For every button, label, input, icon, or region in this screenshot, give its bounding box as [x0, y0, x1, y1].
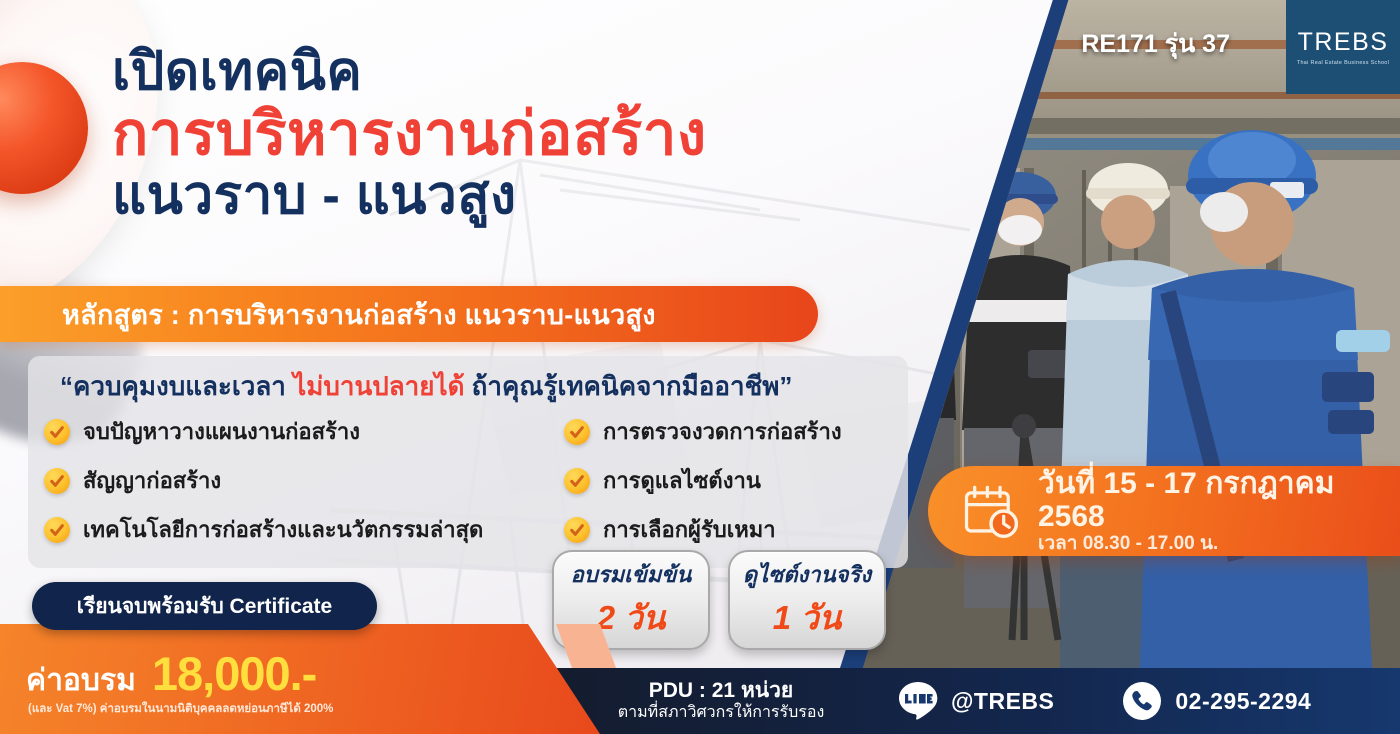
pdu-units: PDU : 21 หน่วย — [556, 679, 886, 702]
calendar-clock-icon — [962, 482, 1020, 540]
pdu-accreditation: ตามที่สภาวิศวกรให้การรับรอง — [556, 703, 886, 723]
date-time: เวลา 08.30 - 17.00 น. — [1038, 533, 1400, 556]
list-item: การดูแลไซต์งาน — [564, 463, 924, 498]
list-item-label: การตรวจงวดการก่อสร้าง — [603, 414, 842, 449]
check-icon — [564, 468, 590, 494]
line-icon[interactable] — [898, 681, 938, 721]
price-row: ค่าอบรม 18,000.- — [26, 646, 316, 704]
check-icon — [564, 419, 590, 445]
certificate-label: เรียนจบพร้อมรับ Certificate — [77, 590, 332, 623]
quote-highlight: ไม่บานปลายได้ — [293, 371, 464, 401]
check-icon — [44, 468, 70, 494]
line-contact[interactable]: @TREBS — [898, 681, 1054, 721]
chip-value: 2 วัน — [597, 591, 666, 644]
list-item: จบปัญหาวางแผนงานก่อสร้าง — [44, 414, 564, 449]
list-item: การตรวจงวดการก่อสร้าง — [564, 414, 924, 449]
date-main: วันที่ 15 - 17 กรกฎาคม 2568 — [1038, 467, 1400, 533]
list-item: การเลือกผู้รับเหมา — [564, 512, 924, 547]
list-item-label: เทคโนโลยีการก่อสร้างและนวัตกรรมล่าสุด — [83, 512, 483, 547]
logo-name: TREBS — [1298, 28, 1389, 57]
date-time-badge: วันที่ 15 - 17 กรกฎาคม 2568 เวลา 08.30 -… — [928, 466, 1400, 556]
price-note: (และ Vat 7%) ค่าอบรมในนามนิติบุคคลลดหย่อ… — [28, 700, 333, 718]
chip-title: อบรมเข้มข้น — [571, 557, 692, 592]
quote-part-after: ถ้าคุณรู้เทคนิคจากมืออาชีพ” — [464, 371, 792, 401]
list-item-label: สัญญาก่อสร้าง — [83, 463, 221, 498]
topic-list: จบปัญหาวางแผนงานก่อสร้าง การตรวจงวดการก่… — [44, 414, 924, 547]
chip-title: ดูไซต์งานจริง — [743, 557, 871, 592]
page-title: เปิดเทคนิค การบริหารงานก่อสร้าง แนวราบ -… — [112, 44, 892, 224]
check-icon — [44, 419, 70, 445]
duration-chip-sitevisit: ดูไซต์งานจริง 1 วัน — [728, 550, 886, 650]
list-item-label: การเลือกผู้รับเหมา — [603, 512, 776, 547]
price-amount: 18,000.- — [152, 646, 316, 701]
phone-contact[interactable]: 02-295-2294 — [1122, 681, 1311, 721]
phone-number[interactable]: 02-295-2294 — [1175, 688, 1311, 715]
logo-tagline: Thai Real Estate Business School — [1297, 60, 1389, 66]
promo-poster: RE171 รุ่น 37 TREBS Thai Real Estate Bus… — [0, 0, 1400, 734]
pdu-info: PDU : 21 หน่วย ตามที่สภาวิศวกรให้การรับร… — [556, 679, 886, 722]
phone-icon[interactable] — [1122, 681, 1162, 721]
headline-line-3: แนวราบ - แนวสูง — [112, 168, 892, 224]
footer-content: PDU : 21 หน่วย ตามที่สภาวิศวกรให้การรับร… — [556, 668, 1400, 734]
price-label: ค่าอบรม — [26, 657, 136, 704]
course-code: RE171 รุ่น 37 — [1081, 24, 1230, 64]
certificate-badge: เรียนจบพร้อมรับ Certificate — [32, 582, 377, 630]
headline-line-2: การบริหารงานก่อสร้าง — [112, 102, 892, 166]
line-id[interactable]: @TREBS — [951, 688, 1054, 715]
list-item-label: จบปัญหาวางแผนงานก่อสร้าง — [83, 414, 360, 449]
course-name-bar: หลักสูตร : การบริหารงานก่อสร้าง แนวราบ-แ… — [0, 286, 818, 342]
check-icon — [564, 517, 590, 543]
course-name-label: หลักสูตร : การบริหารงานก่อสร้าง แนวราบ-แ… — [62, 293, 656, 336]
chip-value: 1 วัน — [773, 591, 842, 644]
list-item: เทคโนโลยีการก่อสร้างและนวัตกรรมล่าสุด — [44, 512, 564, 547]
trebs-logo: TREBS Thai Real Estate Business School — [1286, 0, 1400, 94]
check-icon — [44, 517, 70, 543]
tagline-quote: “ควบคุมงบและเวลา ไม่บานปลายได้ ถ้าคุณรู้… — [60, 366, 860, 407]
quote-part-before: “ควบคุมงบและเวลา — [60, 371, 293, 401]
headline-line-1: เปิดเทคนิค — [112, 44, 892, 100]
list-item: สัญญาก่อสร้าง — [44, 463, 564, 498]
date-text-group: วันที่ 15 - 17 กรกฎาคม 2568 เวลา 08.30 -… — [1038, 467, 1400, 556]
list-item-label: การดูแลไซต์งาน — [603, 463, 761, 498]
